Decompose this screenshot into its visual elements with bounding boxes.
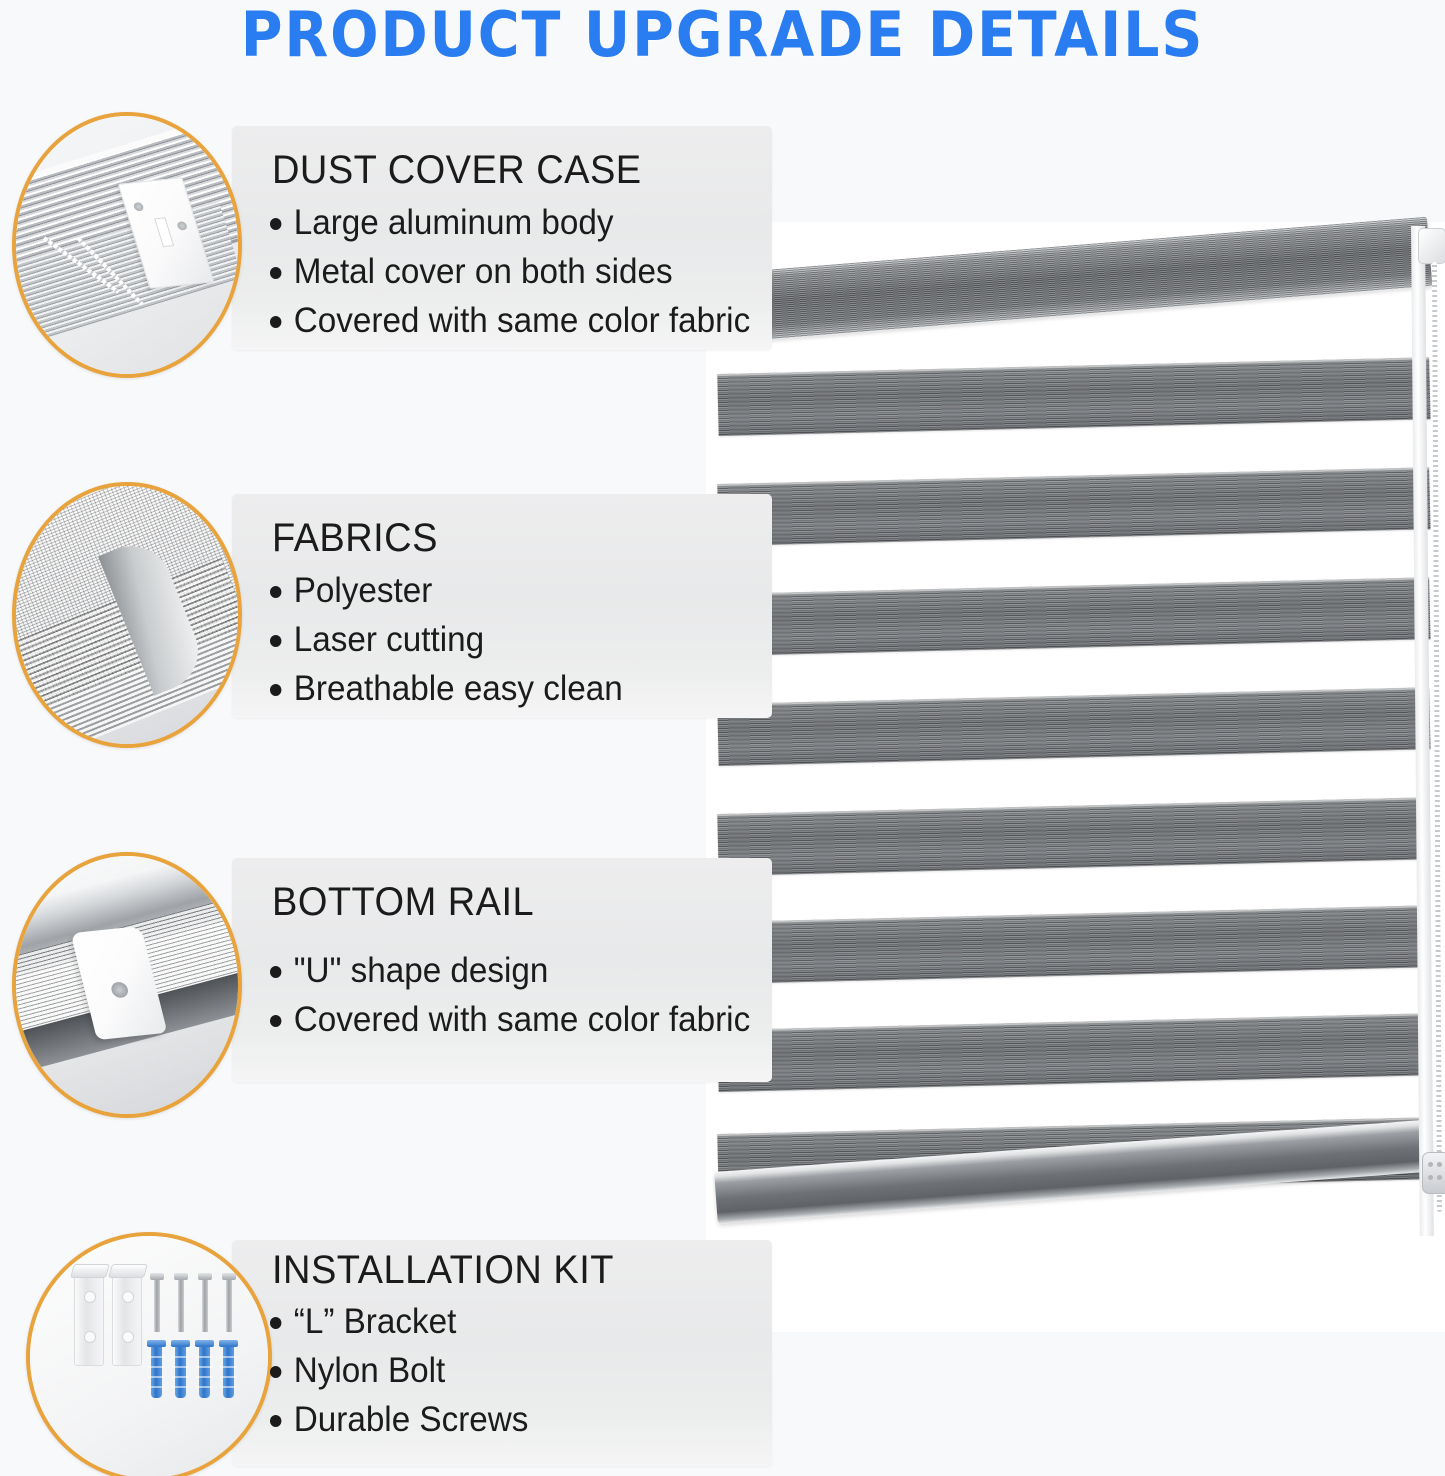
bullet-dot-icon xyxy=(270,586,281,598)
feature-bullet: Large aluminum body xyxy=(270,203,614,243)
screw-icon xyxy=(202,1278,208,1332)
bullet-dot-icon xyxy=(270,267,281,279)
dust-cover-case-illustration xyxy=(16,116,238,374)
bullet-text: Covered with same color fabric xyxy=(294,301,750,340)
chain-connector[interactable] xyxy=(1422,1152,1445,1194)
bullet-text: Durable Screws xyxy=(294,1400,529,1439)
bullet-text: "U" shape design xyxy=(294,951,549,990)
screw-icon xyxy=(178,1278,184,1332)
screw-icon xyxy=(154,1278,160,1332)
page-title: PRODUCT UPGRADE DETAILS xyxy=(58,2,1387,68)
feature-title: FABRICS xyxy=(272,516,438,561)
screw-icon xyxy=(226,1278,232,1332)
bullet-text: Nylon Bolt xyxy=(294,1351,446,1390)
bullet-dot-icon xyxy=(270,316,281,328)
feature-bullet: “L” Bracket xyxy=(270,1302,456,1342)
dust-cover-case-photo xyxy=(12,112,242,378)
product-infographic: PRODUCT UPGRADE DETAILS xyxy=(0,0,1445,1476)
l-bracket-icon xyxy=(112,1270,142,1366)
installation-kit-photo xyxy=(26,1232,272,1476)
feature-bullet: Covered with same color fabric xyxy=(270,1000,750,1040)
blind-end-cap xyxy=(1418,228,1445,264)
bullet-dot-icon xyxy=(270,218,281,230)
bullet-dot-icon xyxy=(270,1015,281,1027)
nylon-bolt-icon xyxy=(199,1344,210,1398)
feature-title: INSTALLATION KIT xyxy=(272,1248,614,1293)
feature-bullet: Polyester xyxy=(270,571,432,611)
bullet-dot-icon xyxy=(270,1366,281,1378)
bullet-text: “L” Bracket xyxy=(294,1302,457,1341)
bullet-dot-icon xyxy=(270,635,281,647)
bullet-dot-icon xyxy=(270,966,281,978)
feature-bullet: Breathable easy clean xyxy=(270,669,623,709)
nylon-bolt-icon xyxy=(151,1344,162,1398)
feature-bullet: Laser cutting xyxy=(270,620,484,660)
feature-bullet: Covered with same color fabric xyxy=(270,301,750,341)
bullet-text: Covered with same color fabric xyxy=(294,1000,750,1039)
installation-kit-illustration xyxy=(30,1236,268,1476)
fabric-illustration xyxy=(16,486,238,744)
bullet-text: Metal cover on both sides xyxy=(294,252,673,291)
bullet-dot-icon xyxy=(270,684,281,696)
nylon-bolt-icon xyxy=(223,1344,234,1398)
feature-bullet: Nylon Bolt xyxy=(270,1351,445,1391)
bullet-text: Laser cutting xyxy=(294,620,484,659)
bottom-rail-photo xyxy=(12,852,242,1118)
feature-title: DUST COVER CASE xyxy=(272,148,642,193)
bullet-text: Large aluminum body xyxy=(294,203,614,242)
bullet-dot-icon xyxy=(270,1415,281,1427)
feature-bullet: Metal cover on both sides xyxy=(270,252,673,292)
bottom-rail-illustration xyxy=(16,856,238,1114)
l-bracket-icon xyxy=(74,1270,104,1366)
product-image-zebra-blind xyxy=(706,222,1445,1332)
fabric-roll-photo xyxy=(12,482,242,748)
feature-bullet: Durable Screws xyxy=(270,1400,528,1440)
feature-bullet: "U" shape design xyxy=(270,951,548,991)
feature-title: BOTTOM RAIL xyxy=(272,880,534,925)
nylon-bolt-icon xyxy=(175,1344,186,1398)
bullet-text: Polyester xyxy=(294,571,433,610)
bullet-text: Breathable easy clean xyxy=(294,669,623,708)
bullet-dot-icon xyxy=(270,1317,281,1329)
